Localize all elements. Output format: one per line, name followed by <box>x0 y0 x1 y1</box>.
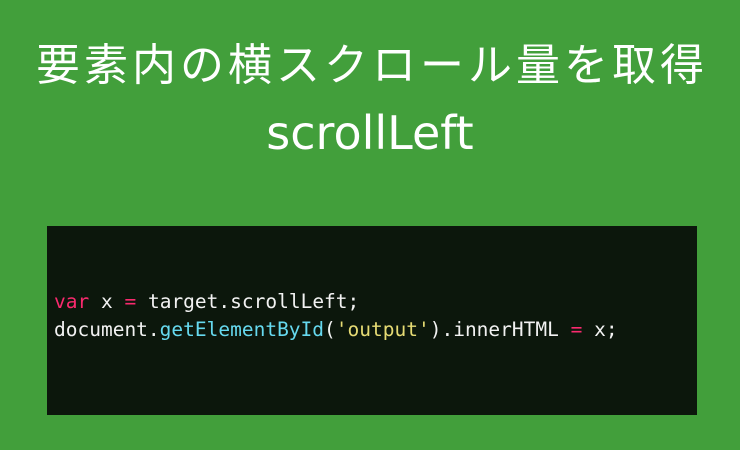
code-block-card: var x = target.scrollLeft; document.getE… <box>47 226 697 415</box>
page-subtitle: scrollLeft <box>0 88 740 156</box>
title-block: 要素内の横スクロール量を取得 scrollLeft <box>0 0 740 156</box>
code-token-string: 'output' <box>336 318 430 341</box>
slide-root: 要素内の横スクロール量を取得 scrollLeft var x = target… <box>0 0 740 450</box>
page-title: 要素内の横スクロール量を取得 <box>0 0 740 88</box>
code-snippet: var x = target.scrollLeft; document.getE… <box>54 288 697 344</box>
code-line: var x = target.scrollLeft; <box>54 290 359 313</box>
code-token-operator: = <box>571 318 583 341</box>
code-token-keyword: var <box>54 290 89 313</box>
code-token-function: getElementById <box>160 318 324 341</box>
code-token-operator: = <box>124 290 136 313</box>
code-line: document.getElementById('output').innerH… <box>54 318 618 341</box>
code-token-plain: x <box>89 290 124 313</box>
code-token-plain: document. <box>54 318 160 341</box>
code-token-plain: x; <box>582 318 617 341</box>
code-token-plain: ( <box>324 318 336 341</box>
code-token-plain: target.scrollLeft; <box>136 290 359 313</box>
code-lines: var x = target.scrollLeft; document.getE… <box>54 290 618 341</box>
code-token-plain: ).innerHTML <box>430 318 571 341</box>
